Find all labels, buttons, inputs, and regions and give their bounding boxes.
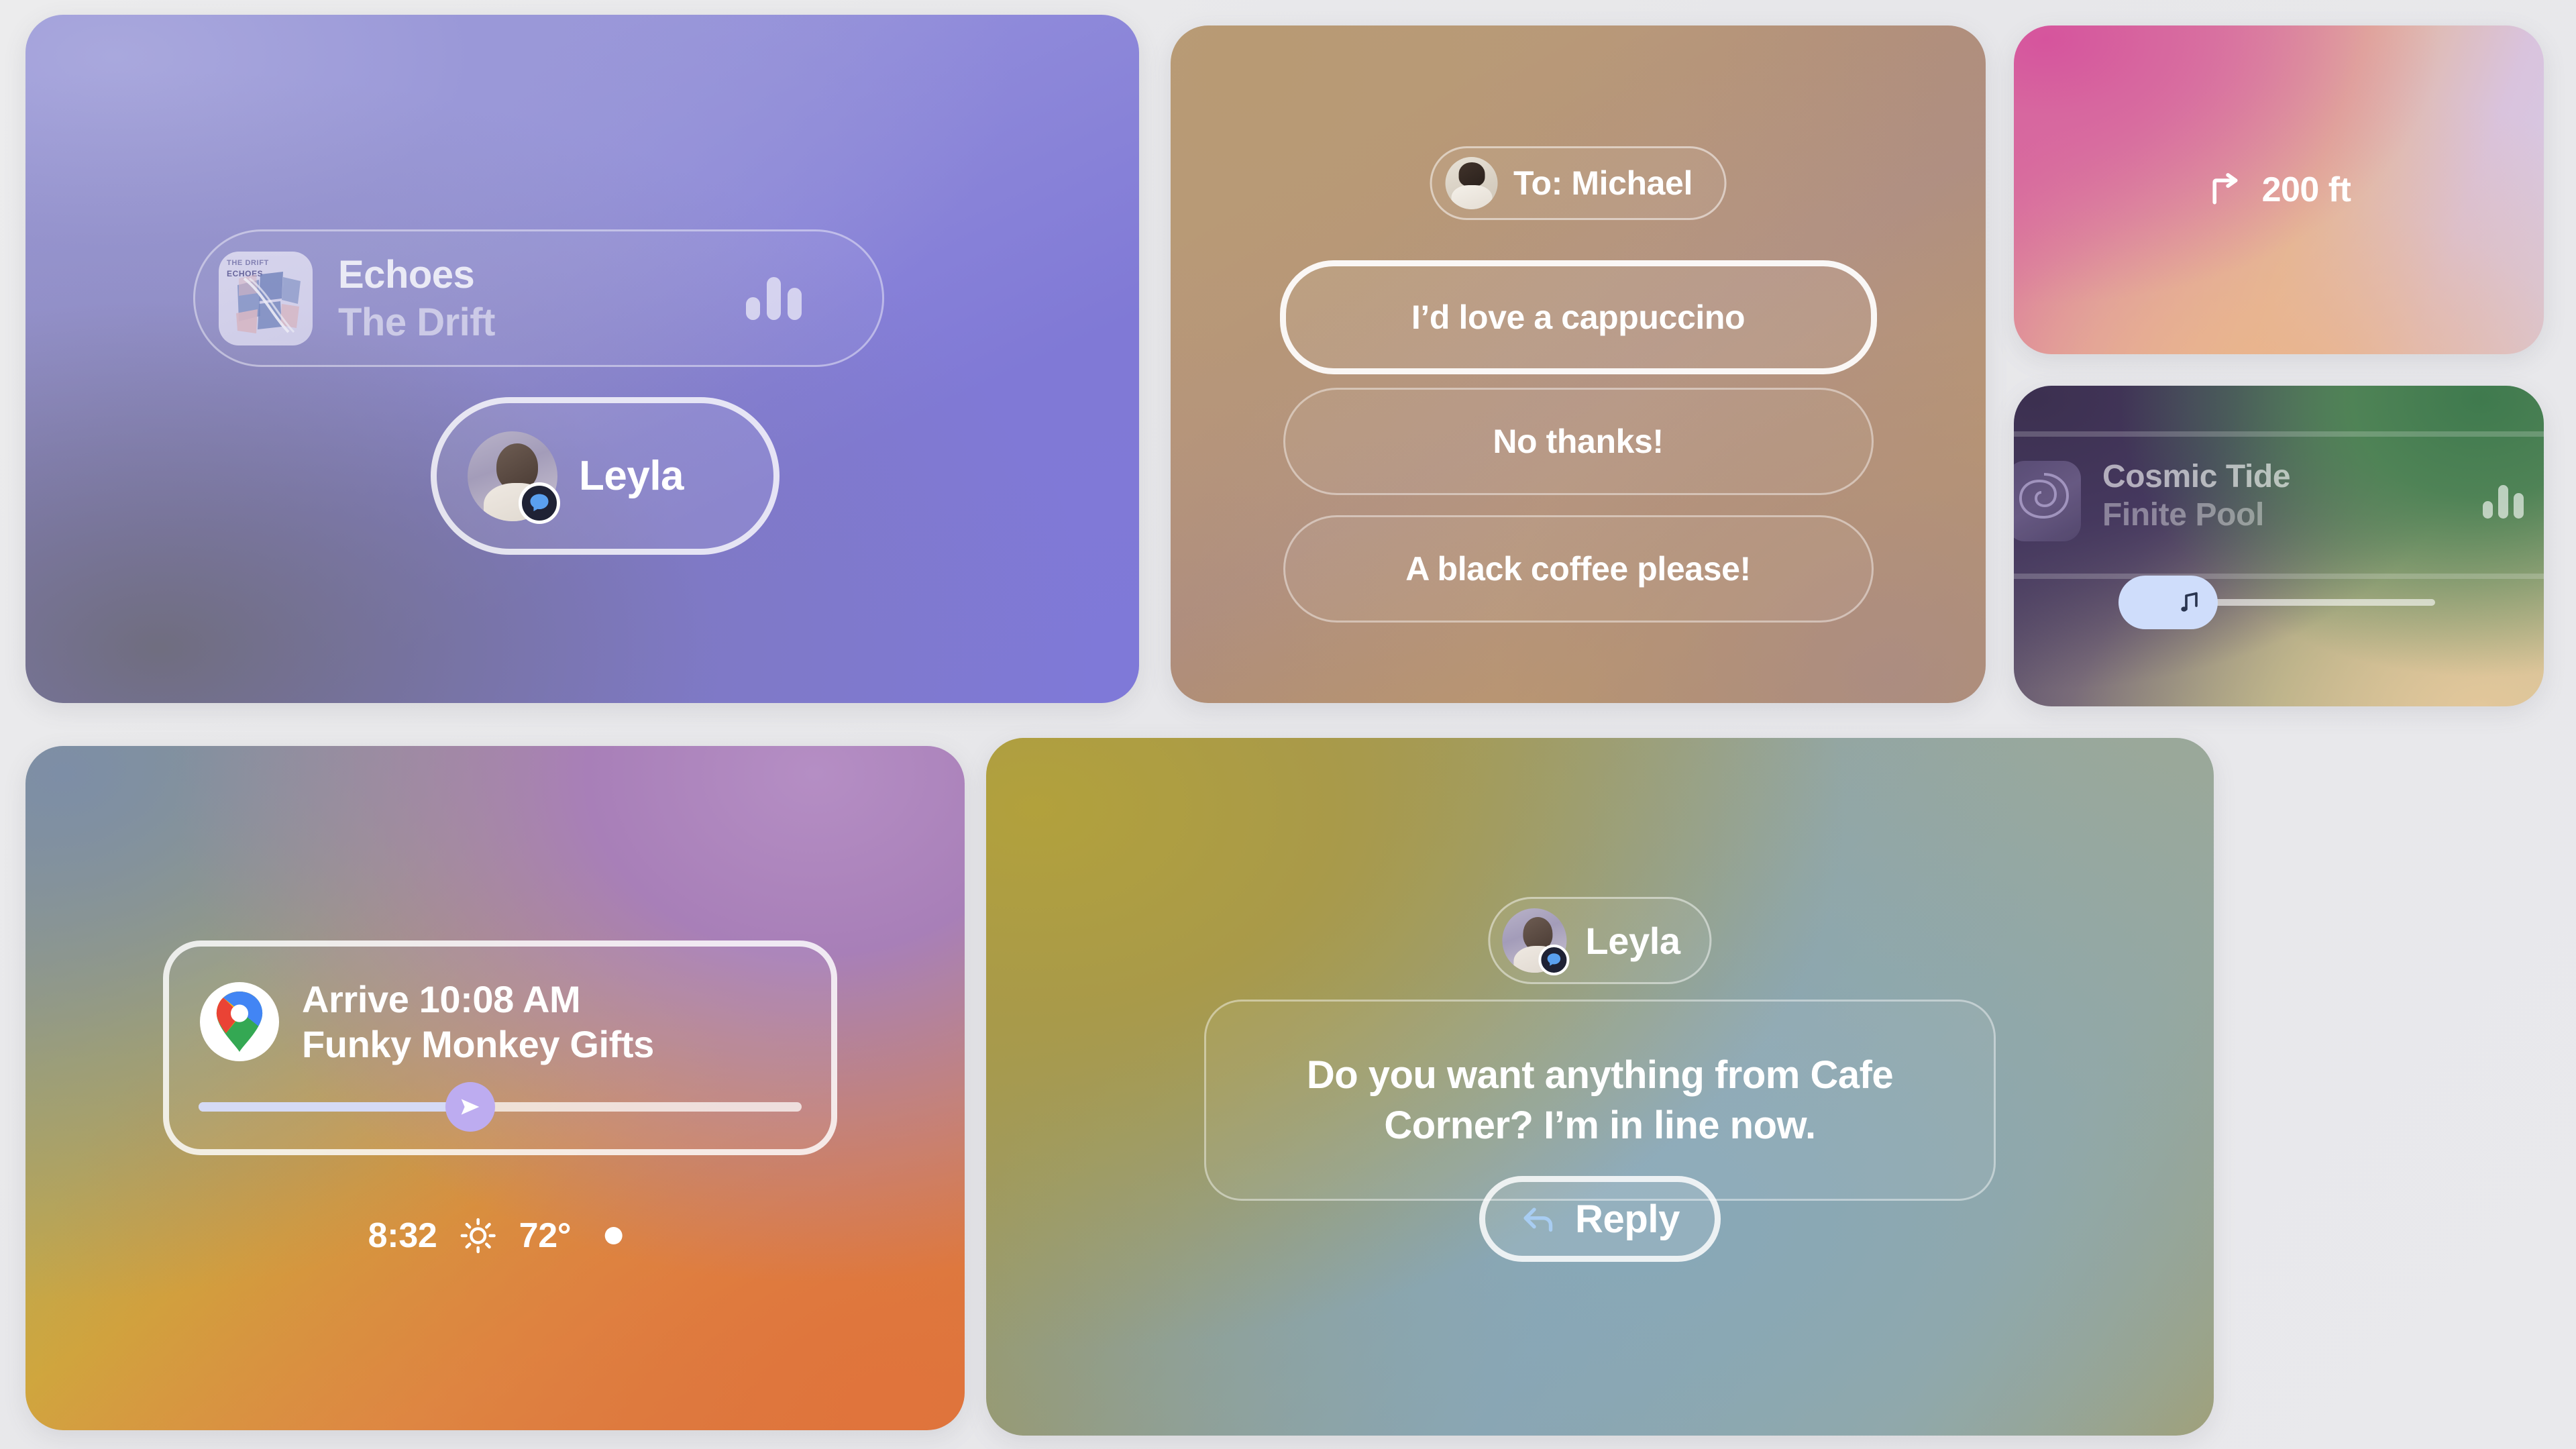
navigation-arrow-icon [457, 1093, 484, 1120]
sender-name: Leyla [1585, 919, 1680, 963]
equalizer-bars-icon [2483, 485, 2524, 519]
now-playing-meta: Echoes The Drift [338, 252, 495, 345]
contact-name: Leyla [579, 452, 684, 500]
reply-option-0[interactable]: I’d love a cappuccino [1280, 260, 1877, 374]
recipient-label: To: Michael [1513, 164, 1693, 203]
avatar-leyla [1502, 908, 1566, 973]
divider-middle [2014, 574, 2544, 579]
reply-option-label: A black coffee please! [1405, 549, 1751, 588]
arrival-eta: Arrive 10:08 AM [302, 977, 654, 1021]
arrival-row: Arrive 10:08 AM Funky Monkey Gifts [200, 977, 654, 1066]
contact-chip-leyla[interactable]: Leyla [431, 397, 780, 555]
cosmic-meta: Cosmic Tide Finite Pool [2102, 458, 2290, 533]
recipient-chip[interactable]: To: Michael [1430, 146, 1727, 220]
reply-option-label: No thanks! [1493, 422, 1663, 461]
navigation-distance-label: 200 ft [2262, 170, 2351, 210]
equalizer-bars-icon [746, 277, 802, 320]
widget-board: THE DRIFT ECHOES Echoes The Drift [0, 0, 2576, 1449]
arrival-progress-thumb[interactable] [445, 1082, 495, 1132]
card-music-now-playing[interactable]: THE DRIFT ECHOES Echoes The Drift [25, 15, 1139, 703]
arrival-progress-fill [199, 1102, 470, 1112]
track-title: Echoes [338, 252, 495, 297]
cosmic-track-title: Cosmic Tide [2102, 458, 2290, 495]
cosmic-scrubber-thumb[interactable] [2118, 576, 2218, 629]
message-bubble-badge-icon [519, 482, 560, 524]
card-suggested-replies[interactable]: To: Michael I’d love a cappuccino No tha… [1171, 25, 1986, 703]
card-incoming-message[interactable]: Leyla Do you want anything from Cafe Cor… [986, 738, 2214, 1436]
reply-option-label: I’d love a cappuccino [1411, 298, 1745, 337]
sun-icon [460, 1218, 496, 1254]
message-bubble-badge-icon [1538, 945, 1569, 975]
message-text: Do you want anything from Cafe Corner? I… [1206, 1050, 1994, 1151]
reply-button-label: Reply [1575, 1197, 1680, 1242]
message-bubble: Do you want anything from Cafe Corner? I… [1204, 1000, 1996, 1201]
divider-top [2014, 431, 2544, 437]
reply-option-1[interactable]: No thanks! [1283, 388, 1874, 495]
google-maps-pin-icon [200, 982, 279, 1061]
album-art-cosmic-tide [2014, 461, 2081, 541]
status-temperature: 72° [519, 1216, 572, 1256]
arrival-destination: Funky Monkey Gifts [302, 1022, 654, 1066]
navigation-readout: 200 ft [2207, 170, 2351, 210]
arrival-pill[interactable]: Arrive 10:08 AM Funky Monkey Gifts [163, 941, 837, 1155]
album-art-echoes: THE DRIFT ECHOES [219, 252, 313, 345]
arrival-text: Arrive 10:08 AM Funky Monkey Gifts [302, 977, 654, 1066]
reply-button[interactable]: Reply [1479, 1176, 1721, 1262]
card-arrival-navigation[interactable]: Arrive 10:08 AM Funky Monkey Gifts 8:32 [25, 746, 965, 1430]
track-artist: The Drift [338, 300, 495, 345]
music-note-icon [2176, 588, 2203, 617]
arrival-progress-track[interactable] [199, 1102, 802, 1112]
sender-chip[interactable]: Leyla [1488, 897, 1711, 984]
reply-arrow-icon [1520, 1200, 1558, 1238]
avatar-leyla [468, 431, 557, 521]
card-navigation-distance[interactable]: 200 ft [2014, 25, 2544, 354]
reply-option-2[interactable]: A black coffee please! [1283, 515, 1874, 623]
status-bar: 8:32 72° [368, 1216, 623, 1256]
card-cosmic-tide-player[interactable]: Cosmic Tide Finite Pool [2014, 386, 2544, 706]
turn-right-arrow-icon [2207, 171, 2245, 209]
status-dot-icon [604, 1227, 622, 1244]
cosmic-track-artist: Finite Pool [2102, 496, 2290, 533]
status-time: 8:32 [368, 1216, 437, 1256]
now-playing-pill[interactable]: THE DRIFT ECHOES Echoes The Drift [193, 229, 884, 367]
avatar-michael [1445, 157, 1497, 209]
